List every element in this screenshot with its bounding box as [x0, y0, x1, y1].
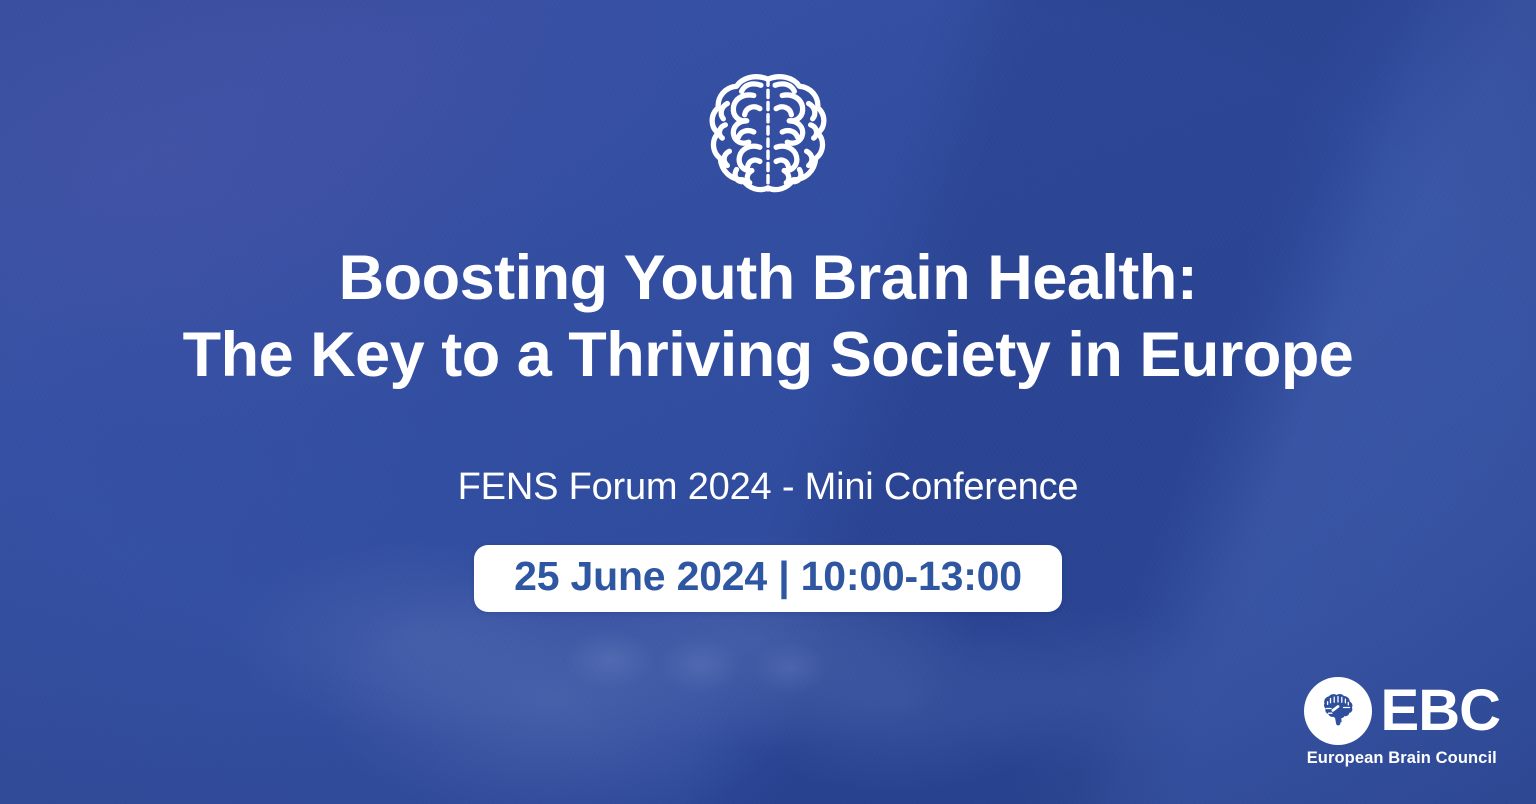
ebc-logo: EBC European Brain Council [1304, 677, 1500, 768]
date-time-badge: 25 June 2024 | 10:00-13:00 [474, 545, 1062, 612]
title-line-2: The Key to a Thriving Society in Europe [183, 317, 1354, 394]
event-subtitle: FENS Forum 2024 - Mini Conference [458, 466, 1079, 509]
event-banner: Boosting Youth Brain Health: The Key to … [0, 0, 1536, 804]
brain-profile-icon [1304, 677, 1372, 745]
ebc-logo-row: EBC [1304, 677, 1500, 745]
ebc-tagline: European Brain Council [1307, 749, 1497, 768]
title-line-1: Boosting Youth Brain Health: [183, 240, 1354, 317]
brain-icon [703, 68, 833, 198]
page-title: Boosting Youth Brain Health: The Key to … [183, 240, 1354, 394]
ebc-acronym: EBC [1381, 683, 1500, 739]
